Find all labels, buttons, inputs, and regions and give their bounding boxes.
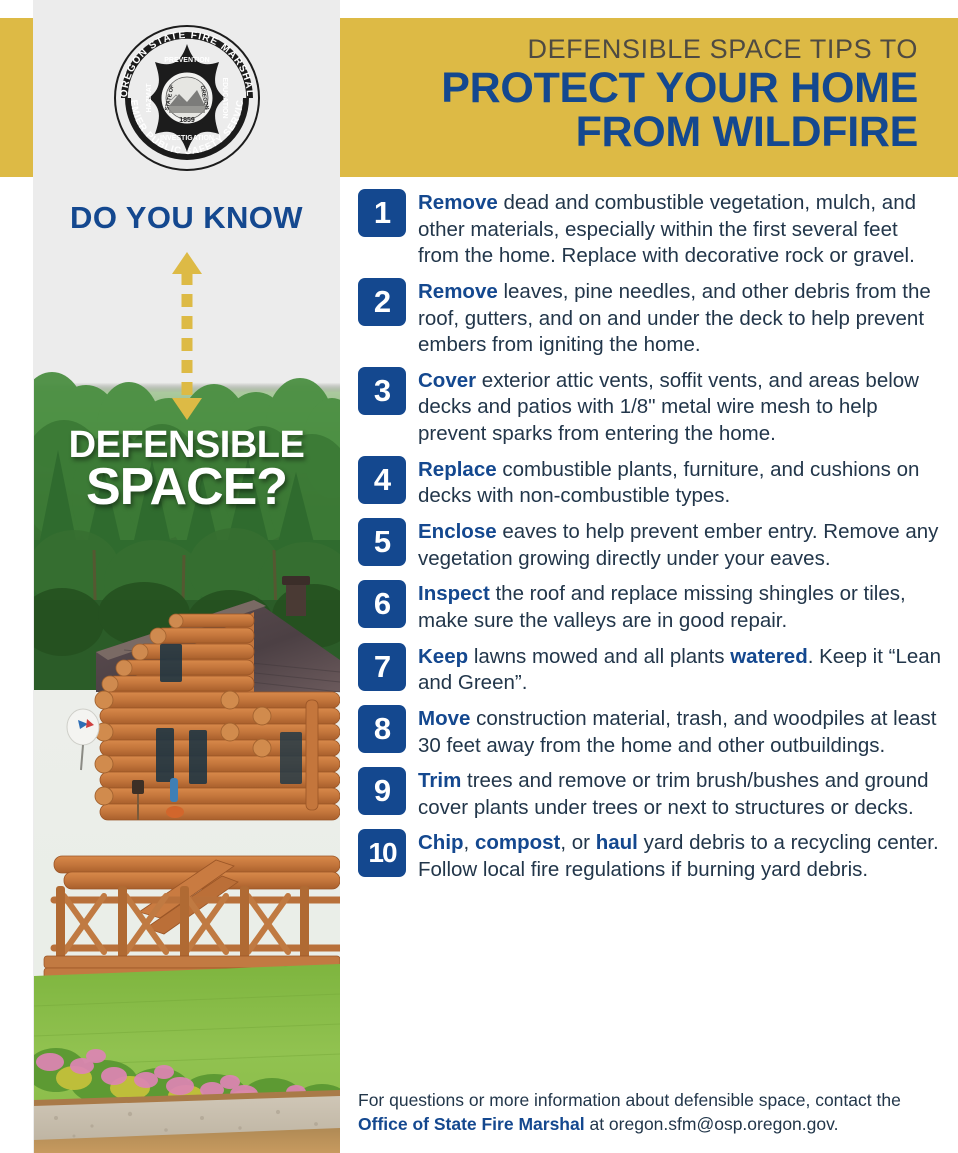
tip-number-badge: 7 [358,643,406,691]
tip-text: Chip, compost, or haul yard debris to a … [418,829,942,883]
tip-lead-word: Keep [418,645,468,668]
tip-text: Trim trees and remove or trim brush/bush… [418,767,942,821]
tip-number-badge: 5 [358,518,406,566]
tip-number-badge: 9 [358,767,406,815]
svg-text:HAZMAT: HAZMAT [146,83,153,113]
tip-text: Remove leaves, pine needles, and other d… [418,278,942,359]
header-title-line-1: PROTECT YOUR HOME [441,66,918,110]
tip-item: 1Remove dead and combustible vegetation,… [358,189,942,270]
tip-lead-word: Trim [418,769,461,792]
header-title: PROTECT YOUR HOME FROM WILDFIRE [441,66,918,155]
tip-number-badge: 1 [358,189,406,237]
tip-lead-word: Enclose [418,520,497,543]
tip-text: Inspect the roof and replace missing shi… [418,580,942,634]
tip-lead-word: Replace [418,458,497,481]
tip-lead-word: Remove [418,191,498,214]
tip-item: 5Enclose eaves to help prevent ember ent… [358,518,942,572]
tip-item: 4Replace combustible plants, furniture, … [358,456,942,510]
tip-number-badge: 10 [358,829,406,877]
tip-number-badge: 2 [358,278,406,326]
do-you-know-heading: DO YOU KNOW [33,200,340,236]
left-panel: OREGON STATE FIRE MARSHAL PREMIER PUBLIC… [33,0,340,1153]
svg-text:PREVENTION: PREVENTION [164,57,210,64]
tip-number-badge: 8 [358,705,406,753]
svg-text:INVESTIGATION: INVESTIGATION [160,135,214,142]
svg-text:1859: 1859 [179,117,195,124]
tip-body-text: the roof and replace missing shingles or… [418,582,906,632]
footer-text-part-2: at oregon.sfm@osp.oregon.gov. [585,1114,839,1134]
tips-list: 1Remove dead and combustible vegetation,… [358,189,942,892]
tip-body-text: eaves to help prevent ember entry. Remov… [418,520,938,570]
footer-contact-note: For questions or more information about … [358,1089,942,1136]
tip-lead-word: compost [475,831,560,854]
tip-item: 2Remove leaves, pine needles, and other … [358,278,942,359]
tip-item: 10Chip, compost, or haul yard debris to … [358,829,942,883]
tip-item: 6Inspect the roof and replace missing sh… [358,580,942,634]
tip-item: 9Trim trees and remove or trim brush/bus… [358,767,942,821]
tip-item: 8Move construction material, trash, and … [358,705,942,759]
tip-text: Move construction material, trash, and w… [418,705,942,759]
header-subtitle: DEFENSIBLE SPACE TIPS TO [527,34,918,65]
footer-org-name: Office of State Fire Marshal [358,1114,585,1134]
tip-body-text: exterior attic vents, soffit vents, and … [418,369,919,445]
tip-number-badge: 6 [358,580,406,628]
tip-lead-word: haul [596,831,638,854]
tip-body-text: trees and remove or trim brush/bushes an… [418,769,929,819]
gold-accent-column [0,18,33,177]
tip-item: 3Cover exterior attic vents, soffit vent… [358,367,942,448]
tip-lead-word: Inspect [418,582,490,605]
tip-lead-word: watered [730,645,807,668]
tip-lead-word: Remove [418,280,498,303]
cabin-photo [34,300,340,1153]
header-band: DEFENSIBLE SPACE TIPS TO PROTECT YOUR HO… [340,18,958,177]
tip-lead-word: Cover [418,369,476,392]
tip-lead-word: Chip [418,831,464,854]
tip-body-text: construction material, trash, and woodpi… [418,707,936,757]
tip-text: Cover exterior attic vents, soffit vents… [418,367,942,448]
tip-text: Enclose eaves to help prevent ember entr… [418,518,942,572]
tip-text: Remove dead and combustible vegetation, … [418,189,942,270]
infographic-poster: OREGON STATE FIRE MARSHAL PREMIER PUBLIC… [0,0,958,1153]
header-title-line-2: FROM WILDFIRE [441,110,918,154]
tip-item: 7Keep lawns mowed and all plants watered… [358,643,942,697]
svg-text:EDUCATION: EDUCATION [221,77,228,118]
tip-number-badge: 4 [358,456,406,504]
tip-number-badge: 3 [358,367,406,415]
tip-text: Keep lawns mowed and all plants watered.… [418,643,942,697]
tip-text: Replace combustible plants, furniture, a… [418,456,942,510]
tip-body-text: lawns mowed and all plants [468,645,730,668]
footer-text-part-1: For questions or more information about … [358,1090,901,1110]
double-headed-dashed-arrow-icon [170,252,204,420]
tip-body-text: , or [560,831,595,854]
tip-body-text: , [464,831,475,854]
agency-seal: OREGON STATE FIRE MARSHAL PREMIER PUBLIC… [111,22,263,174]
tip-lead-word: Move [418,707,470,730]
